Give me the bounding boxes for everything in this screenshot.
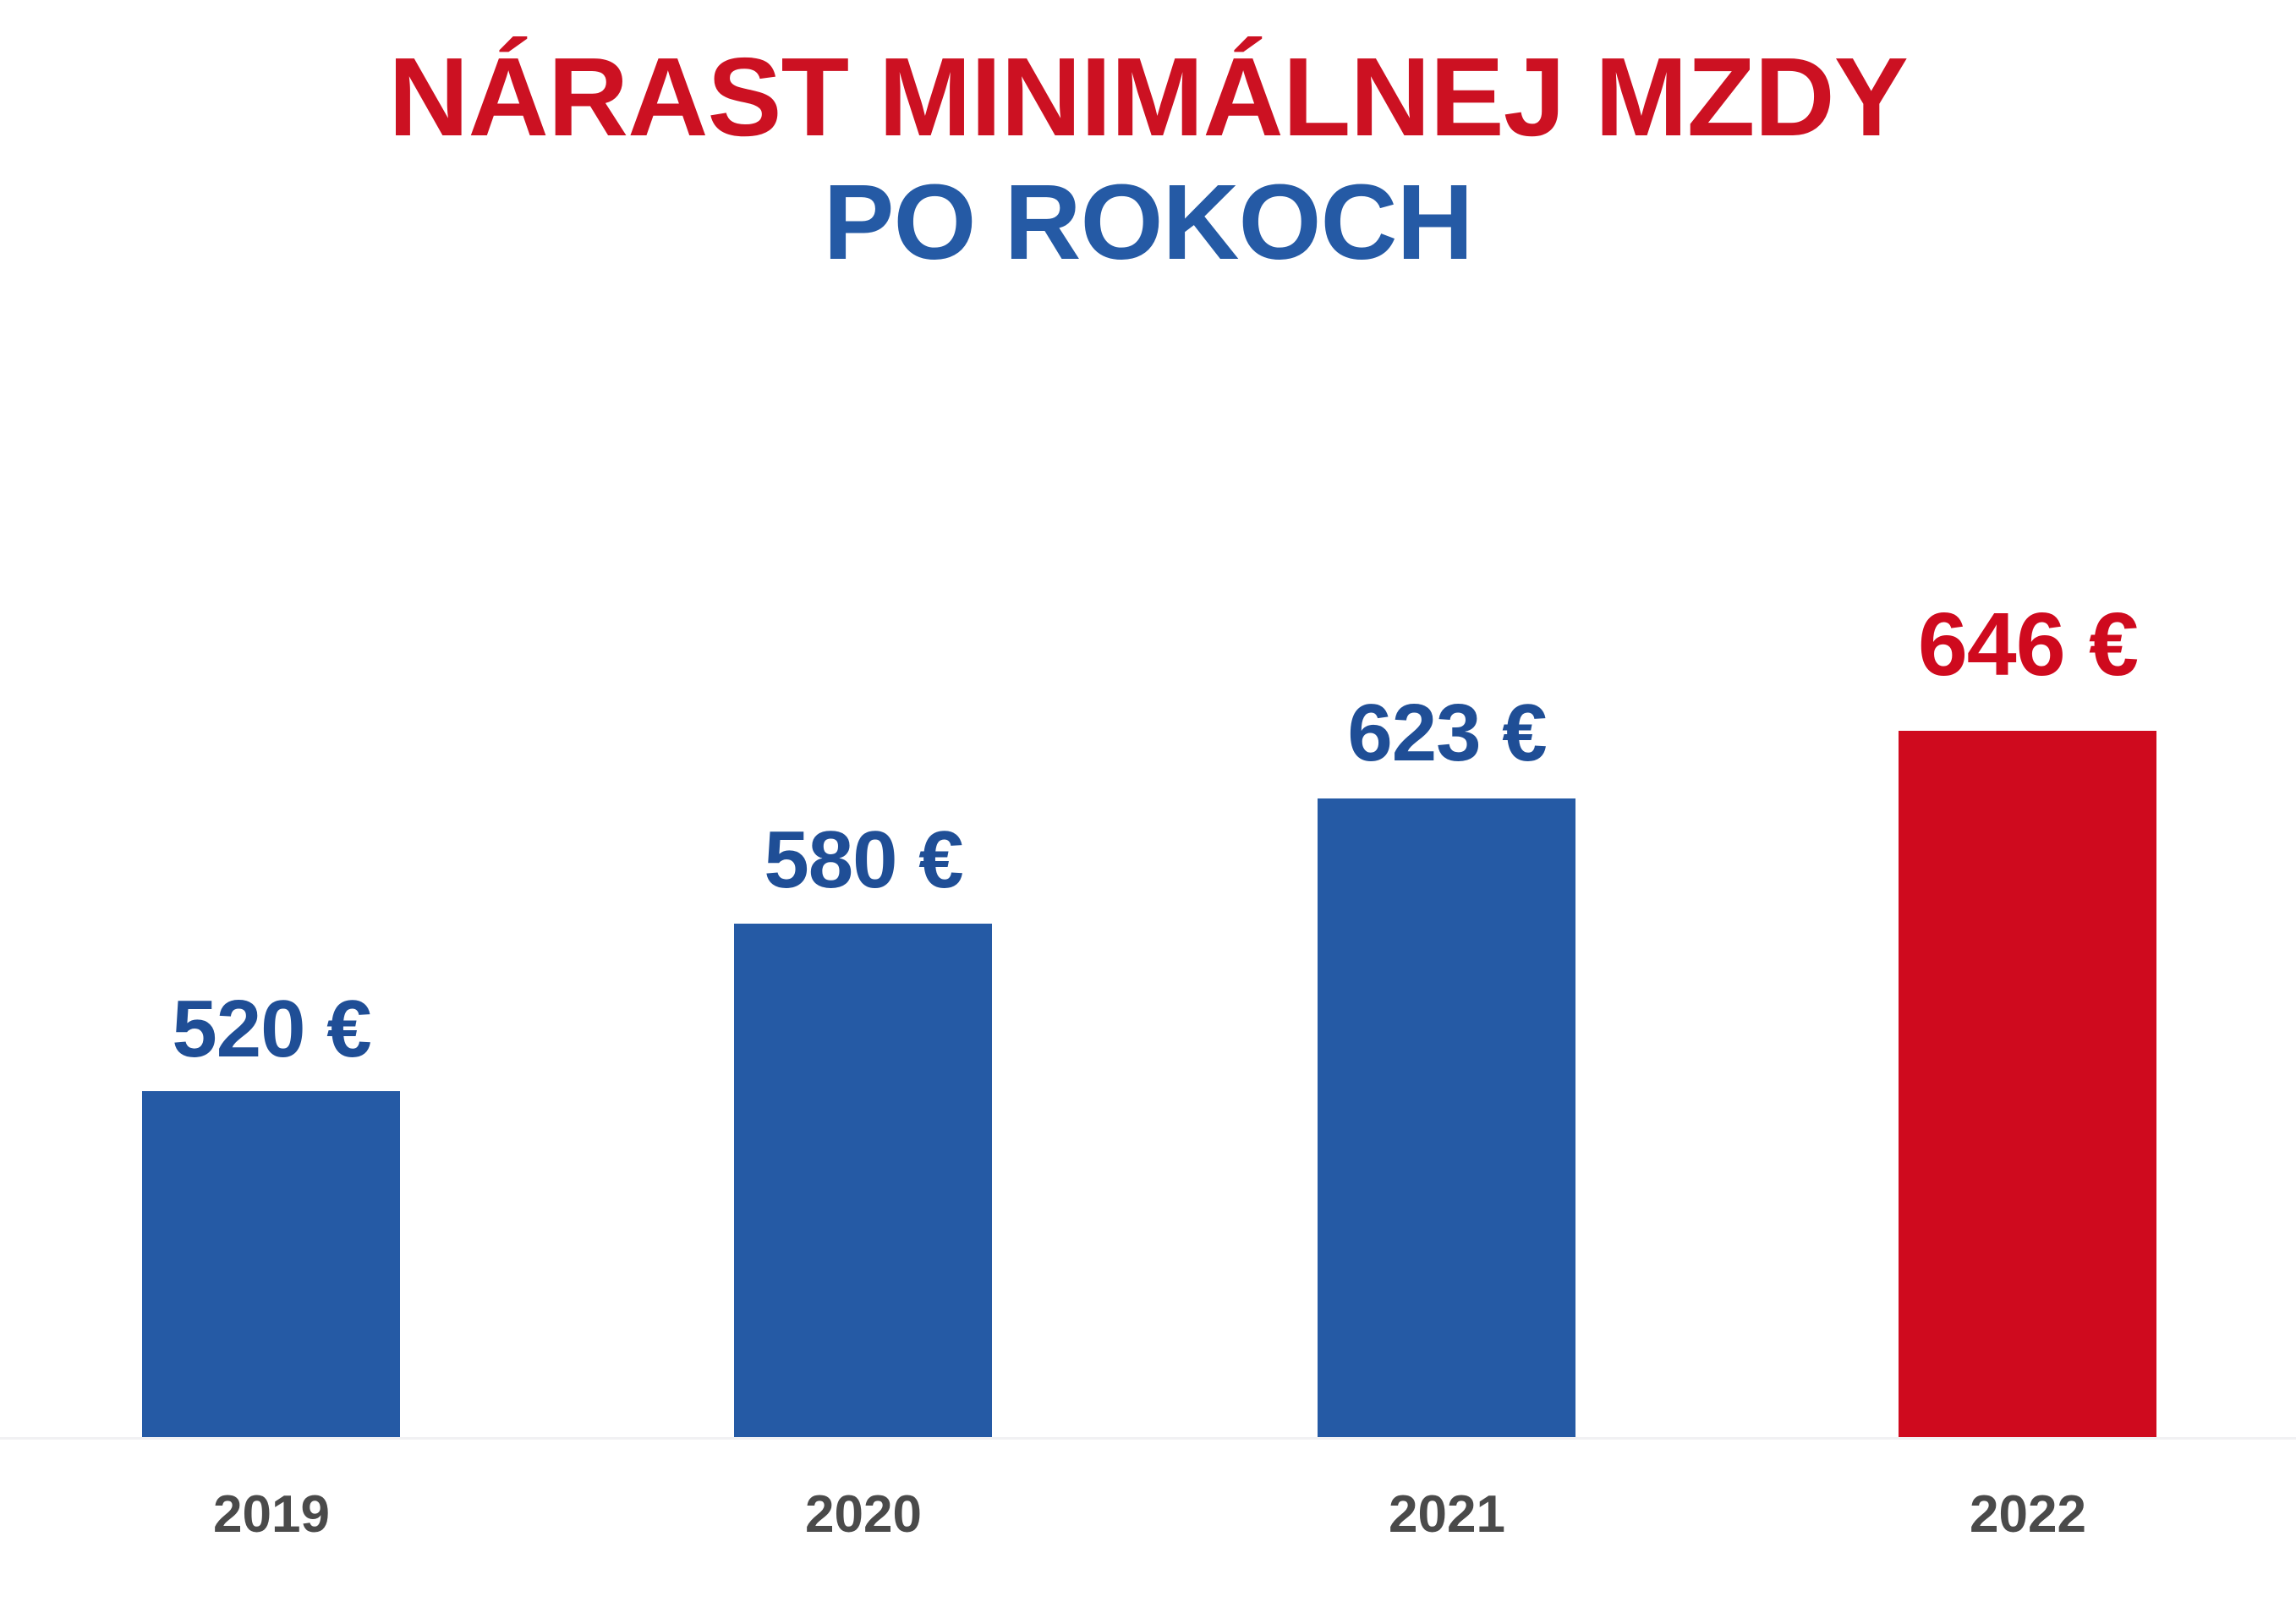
bar-chart-plot-area: 520 € 2019 580 € 2020 623 € 2021 646 € 2… bbox=[0, 0, 2296, 1624]
x-tick-label-2021: 2021 bbox=[1155, 1484, 1739, 1544]
x-tick-label-2020: 2020 bbox=[572, 1484, 1155, 1544]
bar-2019[interactable] bbox=[142, 1091, 400, 1437]
bar-group-2020: 580 € 2020 bbox=[572, 0, 1155, 1624]
bar-value-label-2021: 623 € bbox=[1155, 687, 1739, 780]
chart-canvas: NÁRAST MINIMÁLNEJ MZDY PO ROKOCH 520 € 2… bbox=[0, 0, 2296, 1624]
bar-value-label-2022: 646 € bbox=[1736, 594, 2296, 696]
bar-value-label-2020: 580 € bbox=[572, 814, 1155, 907]
bar-group-2019: 520 € 2019 bbox=[0, 0, 563, 1624]
bar-group-2022: 646 € 2022 bbox=[1736, 0, 2296, 1624]
bar-group-2021: 623 € 2021 bbox=[1155, 0, 1739, 1624]
bar-value-label-2019: 520 € bbox=[0, 983, 563, 1076]
x-tick-label-2019: 2019 bbox=[0, 1484, 563, 1544]
x-tick-label-2022: 2022 bbox=[1736, 1484, 2296, 1544]
bar-2022[interactable] bbox=[1899, 731, 2156, 1437]
bar-2021[interactable] bbox=[1318, 798, 1575, 1437]
bar-2020[interactable] bbox=[734, 924, 992, 1437]
